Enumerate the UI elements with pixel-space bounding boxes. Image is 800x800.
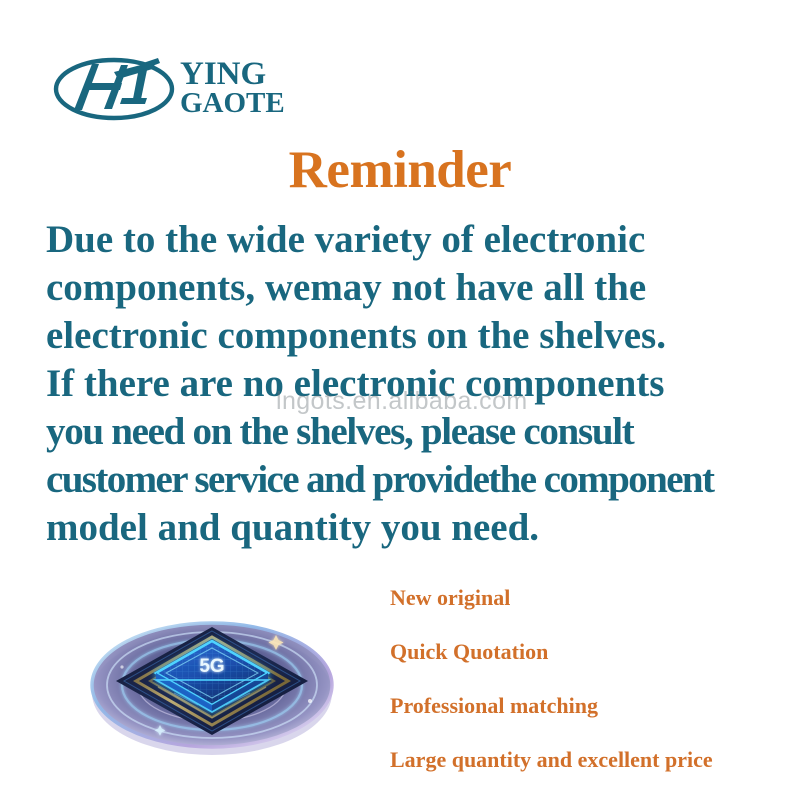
body-line: you need on the shelves, please consult — [46, 408, 762, 456]
feature-item: Professional matching — [390, 679, 790, 733]
body-line: components, wemay not have all the — [46, 264, 762, 312]
brand-name-secondary: GAOTE — [180, 90, 285, 117]
page-title: Reminder — [0, 140, 800, 200]
feature-item: New original — [390, 571, 790, 625]
feature-list: New original Quick Quotation Professiona… — [390, 571, 790, 787]
brand-wordmark: YING GAOTE — [180, 59, 285, 117]
5g-chip-illustration: 5G — [62, 575, 362, 775]
reminder-body-text: Due to the wide variety of electronic co… — [46, 216, 762, 552]
body-line: customer service and providethe componen… — [46, 456, 762, 504]
brand-name-primary: YING — [180, 59, 285, 90]
body-line: model and quantity you need. — [46, 504, 762, 552]
chip-label: 5G — [199, 656, 224, 677]
feature-item: Large quantity and excellent price — [390, 733, 790, 787]
feature-item: Quick Quotation — [390, 625, 790, 679]
body-line: If there are no electronic components — [46, 360, 762, 408]
brand-logo: YING GAOTE — [52, 52, 352, 124]
body-line: electronic components on the shelves. — [46, 312, 762, 360]
promo-banner: YING GAOTE Reminder Due to the wide vari… — [0, 0, 800, 800]
body-line: Due to the wide variety of electronic — [46, 216, 762, 264]
hg-monogram-ellipse-icon — [52, 52, 176, 124]
